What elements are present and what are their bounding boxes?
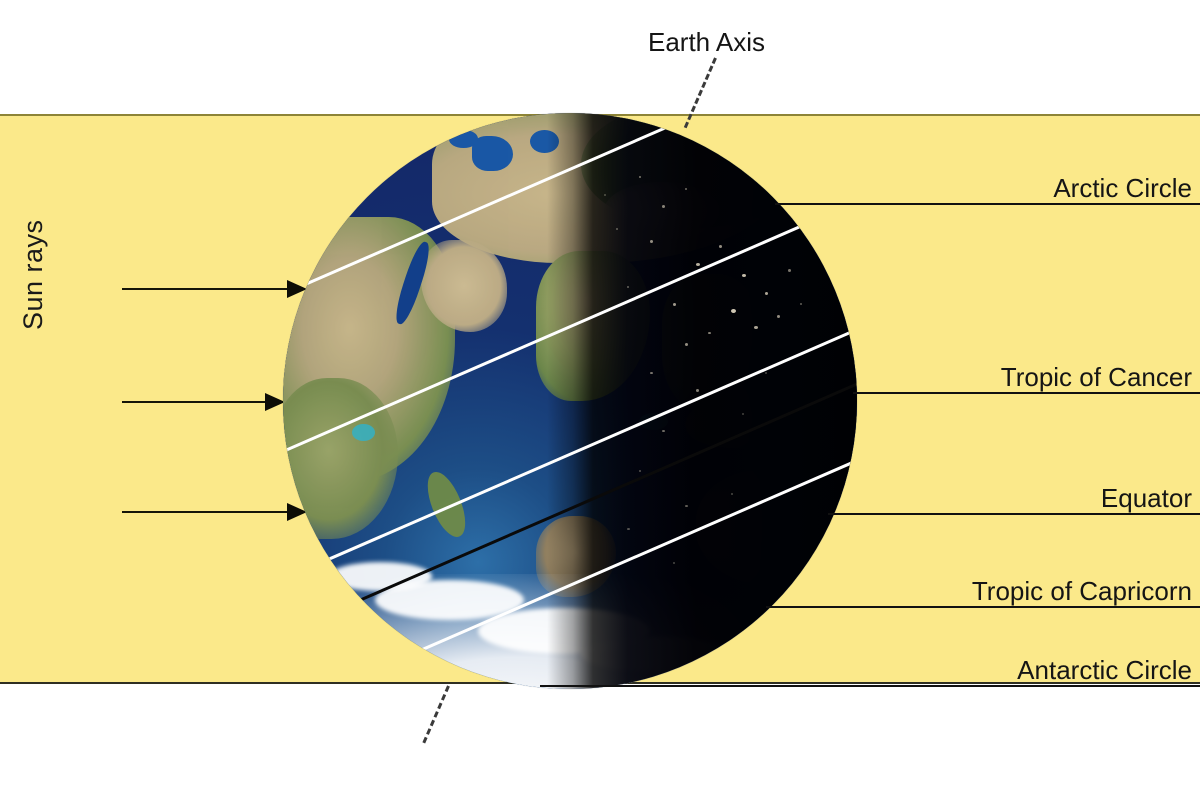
earth-axis-line-bottom — [422, 685, 449, 743]
sun-ray-1-shaft — [122, 288, 292, 290]
sun-ray-3-shaft — [122, 511, 292, 513]
diagram-canvas: Sun rays — [0, 0, 1200, 788]
earth-globe — [283, 113, 857, 689]
sun-ray-2-arrowhead — [265, 393, 285, 411]
label-arctic-circle: Arctic Circle — [1053, 173, 1192, 204]
label-earth-axis: Earth Axis — [648, 27, 765, 58]
label-tropic-of-cancer: Tropic of Cancer — [1001, 362, 1192, 393]
label-tropic-of-capricorn: Tropic of Capricorn — [972, 576, 1192, 607]
label-equator: Equator — [1101, 483, 1192, 514]
city-lights-layer — [283, 113, 857, 689]
sun-rays-label: Sun rays — [18, 190, 49, 330]
sun-ray-2-shaft — [122, 401, 270, 403]
label-antarctic-circle: Antarctic Circle — [1017, 655, 1192, 686]
